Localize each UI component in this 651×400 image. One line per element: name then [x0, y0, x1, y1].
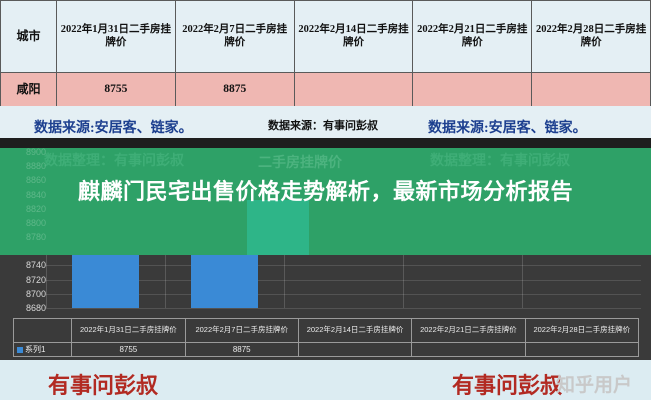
compiled-watermark-left: 数据整理：有事问彭叔: [44, 150, 184, 170]
table-header-col-5: 2022年2月28日二手房挂牌价: [532, 1, 651, 73]
title-overlay: 数据整理：有事问彭叔 二手房挂牌价 数据整理：有事问彭叔 89008880886…: [0, 148, 651, 255]
chart-data-value-1: 8755: [72, 343, 185, 357]
price-table-container: 城市 2022年1月31日二手房挂牌价 2022年2月7日二手房挂牌价 2022…: [0, 0, 651, 106]
table-header-row: 城市 2022年1月31日二手房挂牌价 2022年2月7日二手房挂牌价 2022…: [1, 1, 651, 73]
chart-top-strip: [0, 138, 651, 148]
table-cell-v4: [413, 73, 532, 107]
y-axis-tick-label-overlay: 8800: [2, 218, 46, 228]
bottom-watermark-right: 有事问彭叔: [452, 368, 562, 400]
y-axis-tick-label-overlay: 8880: [2, 161, 46, 171]
source-watermark-center: 数据来源：有事问彭叔: [268, 117, 378, 133]
y-axis-tick-label-overlay: 8780: [2, 232, 46, 242]
zhihu-user-watermark: 知乎用户: [556, 370, 632, 397]
price-table: 城市 2022年1月31日二手房挂牌价 2022年2月7日二手房挂牌价 2022…: [0, 0, 651, 107]
chart-data-col-3: 2022年2月14日二手房挂牌价: [298, 319, 411, 343]
table-header-col-2: 2022年2月7日二手房挂牌价: [175, 1, 294, 73]
chart-data-col-4: 2022年2月21日二手房挂牌价: [412, 319, 525, 343]
table-header-col-3: 2022年2月14日二手房挂牌价: [294, 1, 413, 73]
bottom-watermark-band: 有事问彭叔 有事问彭叔 知乎用户: [0, 360, 651, 400]
chart-data-value-3: [298, 343, 411, 357]
table-cell-v1: 8755: [57, 73, 176, 107]
table-cell-v3: [294, 73, 413, 107]
legend-label: 系列1: [25, 345, 45, 354]
chart-legend-entry: 系列1: [14, 343, 72, 357]
bottom-watermark-left: 有事问彭叔: [48, 368, 158, 400]
chart-data-col-1: 2022年1月31日二手房挂牌价: [72, 319, 185, 343]
y-axis-tick-label: 8700: [2, 289, 46, 299]
y-axis-tick-label: 8720: [2, 275, 46, 285]
y-axis-tick-label-overlay: 8900: [2, 147, 46, 157]
gridline: [46, 308, 641, 309]
compiled-watermark-right: 数据整理：有事问彭叔: [430, 150, 570, 170]
table-cell-city: 咸阳: [1, 73, 57, 107]
table-cell-v5: [532, 73, 651, 107]
chart-data-table: 2022年1月31日二手房挂牌价 2022年2月7日二手房挂牌价 2022年2月…: [13, 318, 639, 357]
chart-data-value-2: 8875: [185, 343, 298, 357]
chart-data-table-corner: [14, 319, 72, 343]
table-header-col-1: 2022年1月31日二手房挂牌价: [57, 1, 176, 73]
table-header-city: 城市: [1, 1, 57, 73]
page-title: 麒麟门民宅出售价格走势解析，最新市场分析报告: [0, 178, 651, 206]
y-axis-tick-label: 8740: [2, 260, 46, 270]
chart-caption-watermark: 二手房挂牌价: [258, 152, 342, 172]
chart-data-table-header: 2022年1月31日二手房挂牌价 2022年2月7日二手房挂牌价 2022年2月…: [14, 319, 639, 343]
source-watermark-left: 数据来源:安居客、链家。: [34, 117, 193, 137]
legend-swatch-icon: [17, 347, 23, 353]
chart-data-value-5: [525, 343, 638, 357]
chart-bar-2-overlay-segment: [247, 200, 309, 255]
chart-bar: [72, 255, 139, 308]
chart-data-value-4: [412, 343, 525, 357]
table-cell-v2: 8875: [175, 73, 294, 107]
table-header-col-4: 2022年2月21日二手房挂牌价: [413, 1, 532, 73]
chart-data-table-values: 系列1 8755 8875: [14, 343, 639, 357]
y-axis-tick-label: 8680: [2, 303, 46, 313]
source-watermark-right: 数据来源:安居客、链家。: [428, 117, 587, 137]
source-watermark-band: 数据来源:安居客、链家。 数据来源：有事问彭叔 数据来源:安居客、链家。: [0, 106, 651, 138]
chart-data-col-2: 2022年2月7日二手房挂牌价: [185, 319, 298, 343]
chart-data-col-5: 2022年2月28日二手房挂牌价: [525, 319, 638, 343]
table-row: 咸阳 8755 8875: [1, 73, 651, 107]
